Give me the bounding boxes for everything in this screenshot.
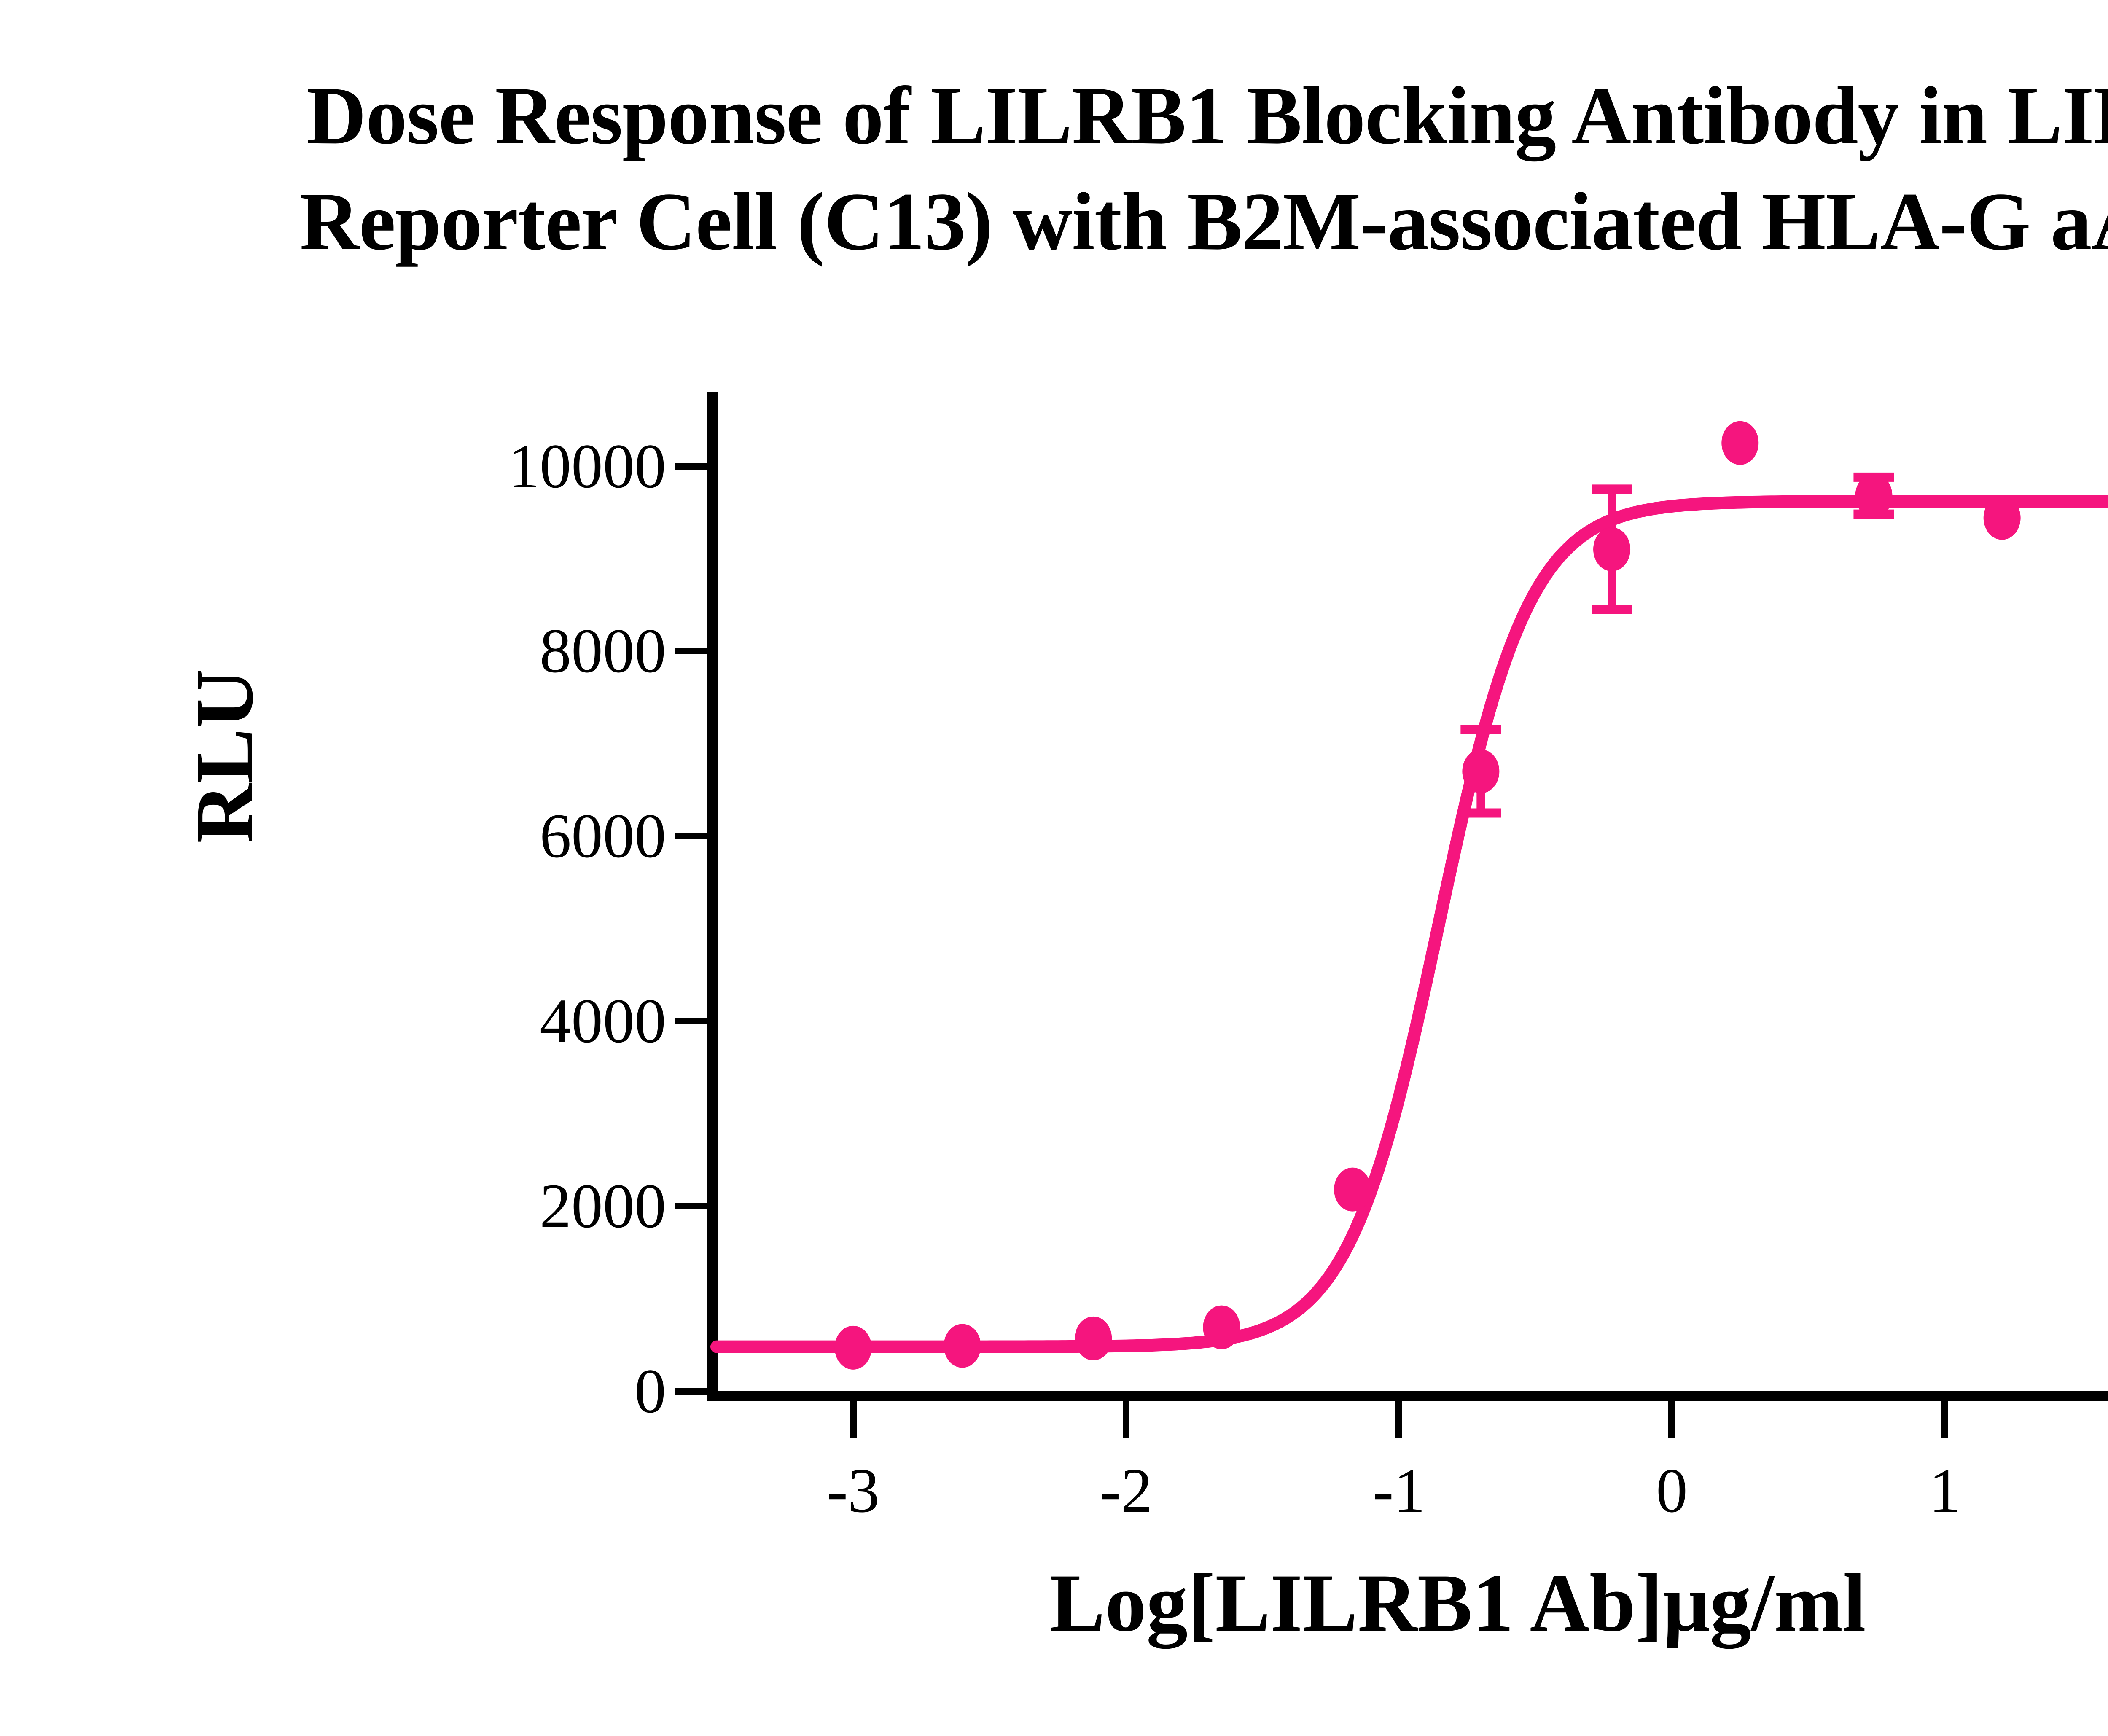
plot-area: 0200040006000800010000 -3-2-1012 EC50 = …	[717, 392, 2108, 1391]
y-tick-label: 6000	[540, 800, 666, 872]
data-point	[1593, 527, 1630, 571]
y-tick-label: 2000	[540, 1170, 666, 1242]
y-tick-mark	[675, 648, 707, 654]
data-point	[1075, 1317, 1112, 1360]
x-tick-label: -3	[827, 1454, 879, 1527]
y-tick-mark	[675, 463, 707, 470]
y-tick-mark	[675, 1018, 707, 1024]
chart-title-line-2: Reporter Cell (C13) with B2M-associated …	[0, 169, 2108, 275]
data-point	[1721, 421, 1758, 465]
x-tick-mark	[850, 1401, 857, 1438]
x-axis-title: Log[LILRB1 Ab]μg/ml	[0, 1556, 2108, 1650]
y-axis-title: RLU	[177, 669, 272, 843]
figure-canvas: Dose Response of LILRB1 Blocking Antibod…	[0, 0, 2108, 1736]
data-point	[835, 1326, 872, 1370]
x-tick-mark	[1395, 1401, 1402, 1438]
y-tick-mark	[675, 1388, 707, 1395]
x-tick-label: -1	[1373, 1454, 1425, 1527]
data-layer	[717, 392, 2108, 1391]
y-tick-mark	[675, 833, 707, 839]
y-tick-mark	[675, 1203, 707, 1209]
data-point	[1462, 750, 1499, 793]
error-bar	[1853, 477, 1894, 514]
data-points-and-error-bars	[717, 392, 2108, 1395]
y-tick-label: 4000	[540, 985, 666, 1057]
chart-title: Dose Response of LILRB1 Blocking Antibod…	[0, 63, 2108, 275]
y-tick-label: 8000	[540, 615, 666, 687]
x-axis-spine	[707, 1391, 2108, 1401]
x-tick-mark	[1668, 1401, 1675, 1438]
x-tick-label: 1	[1929, 1454, 1960, 1527]
y-axis-spine	[707, 392, 718, 1400]
y-tick-label: 10000	[508, 430, 666, 503]
data-point	[1334, 1168, 1371, 1212]
data-point	[1203, 1306, 1240, 1349]
x-tick-label: -2	[1100, 1454, 1152, 1527]
fit-curve-path	[717, 501, 2108, 1347]
chart-title-line-1: Dose Response of LILRB1 Blocking Antibod…	[0, 63, 2108, 169]
data-point	[1984, 496, 2021, 540]
error-bar	[1592, 489, 1632, 609]
x-tick-mark	[1123, 1401, 1129, 1438]
data-point	[944, 1324, 981, 1368]
x-tick-mark	[1941, 1401, 1948, 1438]
x-tick-label: 0	[1656, 1454, 1688, 1527]
y-tick-label: 0	[635, 1355, 666, 1427]
error-bar	[1460, 730, 1501, 813]
fit-curve	[717, 392, 2108, 1395]
data-point	[1855, 474, 1892, 518]
